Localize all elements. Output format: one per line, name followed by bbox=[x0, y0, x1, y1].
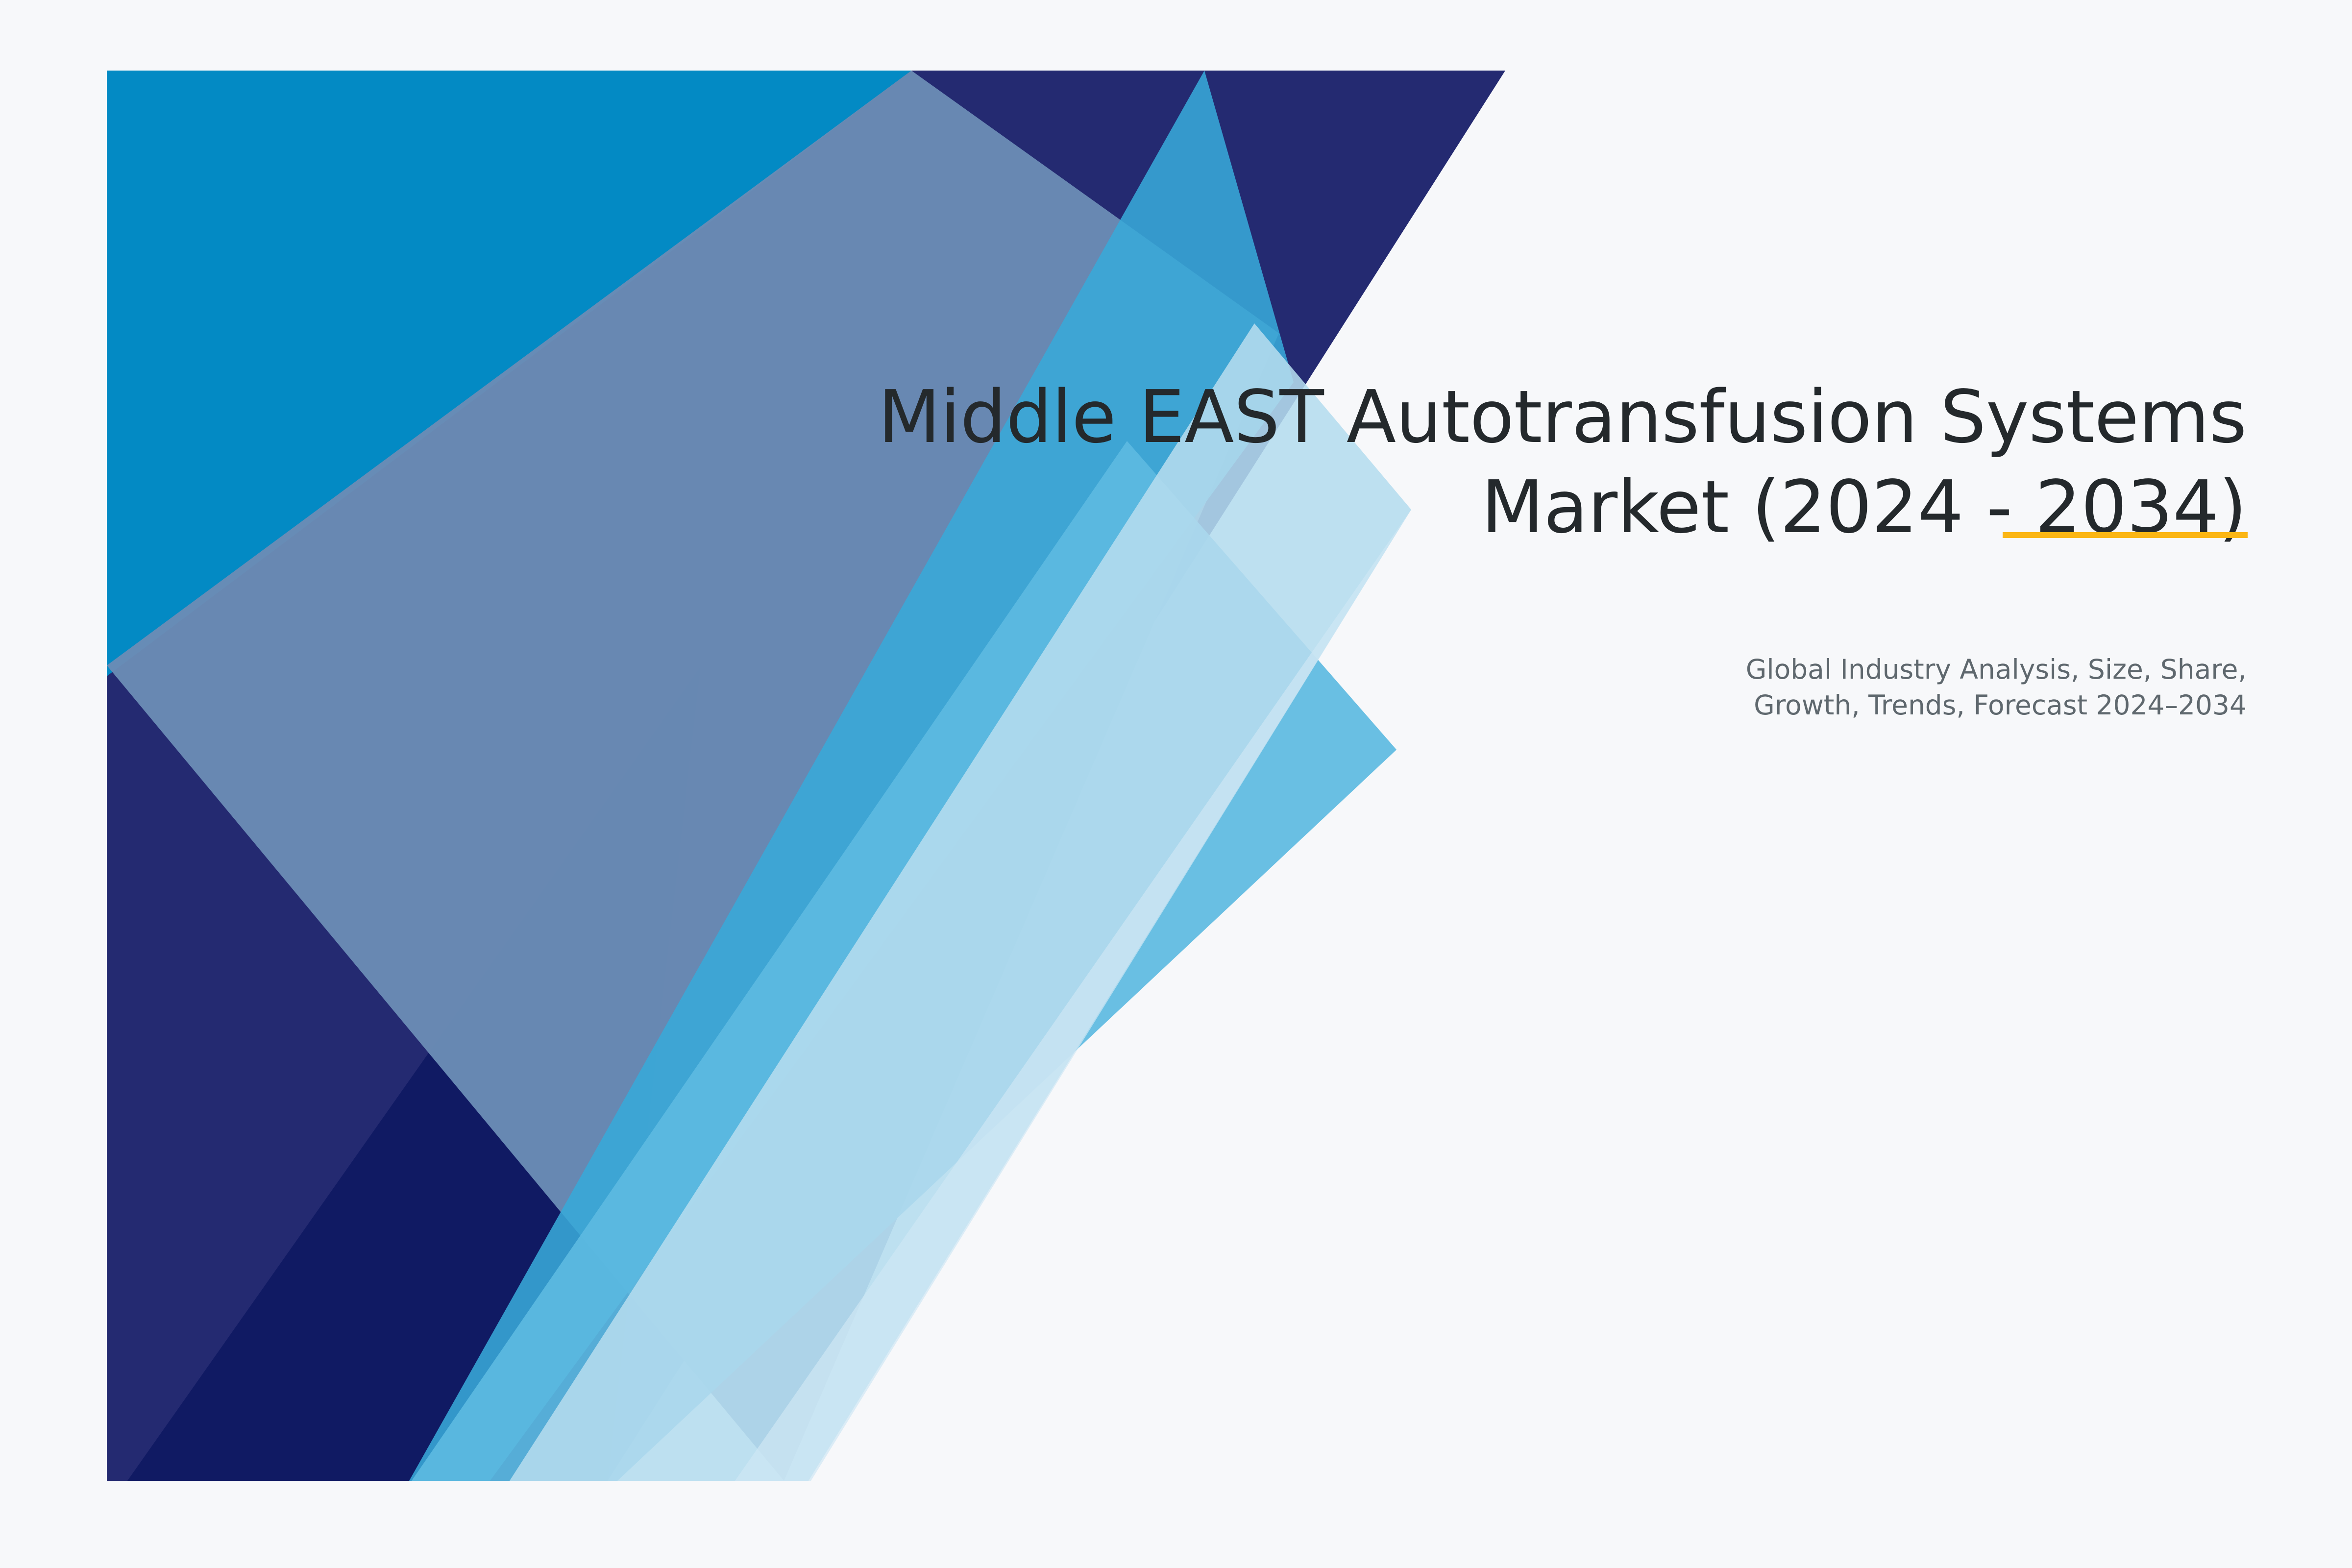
cover-text-block: Middle EAST Autotransfusion Systems Mark… bbox=[804, 372, 2247, 552]
page-title: Middle EAST Autotransfusion Systems Mark… bbox=[804, 372, 2247, 552]
page-subtitle: Global Industry Analysis, Size, Share, G… bbox=[1421, 652, 2247, 723]
title-accent-underline bbox=[2003, 532, 2248, 538]
abstract-geometric-artwork bbox=[0, 0, 2352, 1568]
report-cover-page: Middle EAST Autotransfusion Systems Mark… bbox=[0, 0, 2352, 1568]
